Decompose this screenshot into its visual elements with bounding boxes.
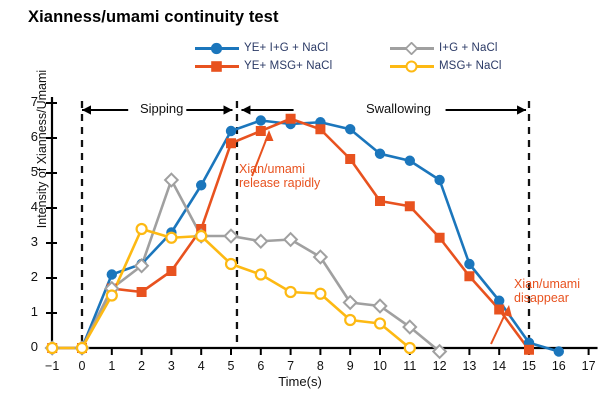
data-point: [315, 124, 325, 134]
data-point: [464, 259, 474, 269]
data-point: [435, 233, 445, 243]
y-tick-label: 1: [20, 304, 38, 319]
y-tick-label: 6: [20, 129, 38, 144]
x-tick-label: 1: [100, 359, 124, 373]
data-point: [226, 259, 236, 269]
data-point: [196, 180, 206, 190]
data-point: [225, 230, 238, 243]
data-point: [166, 266, 176, 276]
data-point: [375, 319, 385, 329]
x-tick-label: 3: [159, 359, 183, 373]
y-tick-label: 7: [20, 94, 38, 109]
data-point: [345, 124, 355, 134]
data-point: [345, 315, 355, 325]
data-point: [434, 175, 444, 185]
x-tick-label: 0: [70, 359, 94, 373]
data-point: [464, 271, 474, 281]
series-line-0: [52, 121, 559, 352]
data-point: [554, 346, 564, 356]
data-point: [226, 138, 236, 148]
data-point: [165, 174, 178, 187]
data-point: [255, 235, 268, 248]
x-tick-label: −1: [40, 359, 64, 373]
data-point: [284, 233, 297, 246]
plot-area: [0, 0, 600, 400]
data-point: [137, 287, 147, 297]
data-point: [375, 149, 385, 159]
x-tick-label: 2: [130, 359, 154, 373]
arrow-head-icon: [82, 105, 91, 114]
data-point: [494, 296, 504, 306]
x-tick-label: 6: [249, 359, 273, 373]
data-point: [405, 156, 415, 166]
x-tick-label: 5: [219, 359, 243, 373]
arrow-head-icon: [517, 105, 526, 114]
data-point: [315, 289, 325, 299]
y-tick-label: 5: [20, 164, 38, 179]
x-tick-label: 7: [279, 359, 303, 373]
x-axis-label: Time(s): [0, 374, 600, 389]
data-point: [47, 343, 57, 353]
x-tick-label: 11: [398, 359, 422, 373]
data-point: [286, 114, 296, 124]
x-tick-label: 12: [428, 359, 452, 373]
arrow-head-icon: [241, 105, 250, 114]
data-point: [286, 287, 296, 297]
x-tick-label: 17: [577, 359, 600, 373]
data-point: [375, 196, 385, 206]
data-point: [107, 269, 117, 279]
data-point: [107, 291, 117, 301]
data-point: [196, 231, 206, 241]
chart-figure: Xianness/umami continuity test YE+ I+G +…: [0, 0, 600, 400]
data-point: [166, 233, 176, 243]
y-tick-label: 2: [20, 269, 38, 284]
data-point: [226, 126, 236, 136]
y-tick-label: 3: [20, 234, 38, 249]
data-point: [524, 345, 534, 355]
data-point: [137, 224, 147, 234]
x-tick-label: 4: [189, 359, 213, 373]
x-tick-label: 14: [487, 359, 511, 373]
y-tick-label: 4: [20, 199, 38, 214]
note-release-rapidly: Xian/umamirelease rapidly: [239, 162, 320, 191]
data-point: [494, 305, 504, 315]
y-tick-label: 0: [20, 339, 38, 354]
x-tick-label: 15: [517, 359, 541, 373]
arrow-head-icon: [265, 130, 274, 141]
data-point: [77, 343, 87, 353]
phase-label-sipping: Sipping: [140, 101, 183, 116]
x-tick-label: 13: [457, 359, 481, 373]
x-tick-label: 9: [338, 359, 362, 373]
data-point: [405, 201, 415, 211]
data-point: [256, 270, 266, 280]
x-tick-label: 10: [368, 359, 392, 373]
y-axis-label: Intensity of Xianness/Umami: [35, 29, 49, 269]
data-point: [405, 343, 415, 353]
x-tick-label: 16: [547, 359, 571, 373]
data-point: [345, 154, 355, 164]
data-point: [256, 115, 266, 125]
note-disappear: Xian/umamidisappear: [514, 277, 580, 306]
phase-label-swallowing: Swallowing: [366, 101, 431, 116]
x-tick-label: 8: [308, 359, 332, 373]
data-point: [256, 126, 266, 136]
arrow-head-icon: [223, 105, 232, 114]
